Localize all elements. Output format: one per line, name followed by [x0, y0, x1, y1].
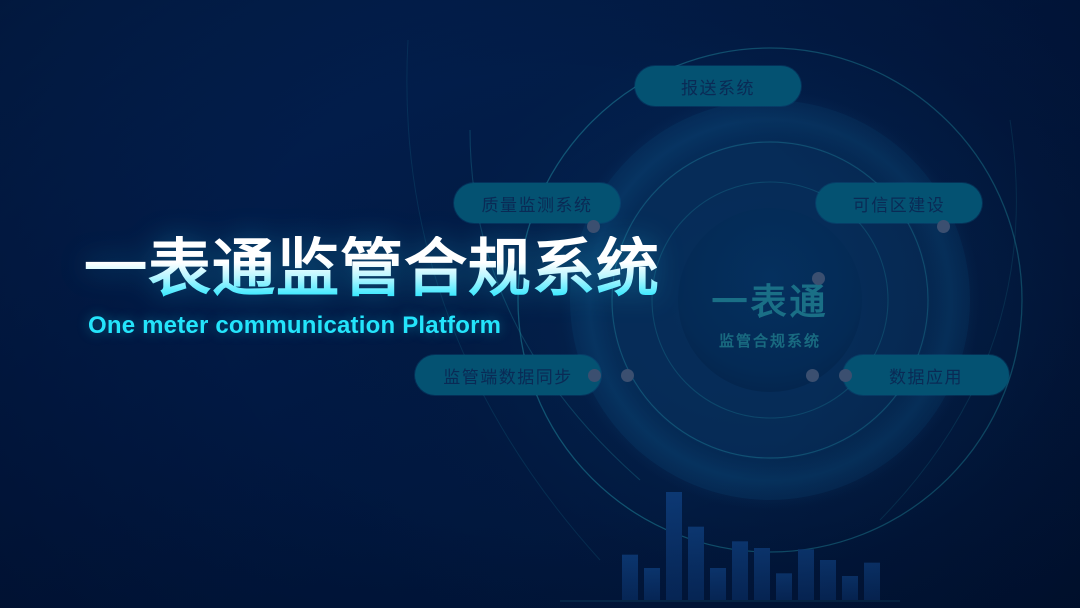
chart-bar [688, 527, 704, 600]
node-pill-label: 数据应用 [889, 363, 963, 388]
chart-bar [842, 576, 858, 600]
chart-bar [732, 541, 748, 600]
node-pill-label: 报送系统 [681, 74, 755, 99]
connector-dot-3 [621, 369, 634, 382]
connector-dot-1 [812, 272, 825, 285]
connector-dot-2 [588, 369, 601, 382]
connector-dot-4 [806, 369, 819, 382]
node-pill-3[interactable]: 可信区建设 [816, 183, 982, 223]
chart-bar [776, 573, 792, 600]
node-pill-5[interactable]: 数据应用 [843, 355, 1009, 395]
node-pill-1[interactable]: 报送系统 [635, 66, 801, 106]
chart-bar [798, 549, 814, 600]
node-pill-4[interactable]: 监管端数据同步 [415, 355, 601, 395]
headline-block: 一表通监管合规系统 One meter communication Platfo… [84, 236, 704, 340]
page-subtitle: One meter communication Platform [88, 312, 704, 340]
page-title: 一表通监管合规系统 [84, 236, 704, 302]
chart-bar [666, 492, 682, 600]
chart-bar [820, 560, 836, 600]
node-pill-2[interactable]: 质量监测系统 [454, 183, 620, 223]
connector-dot-7 [937, 220, 950, 233]
connector-dot-6 [587, 220, 600, 233]
node-pill-label: 监管端数据同步 [443, 363, 573, 388]
core-disc [678, 208, 862, 392]
chart-bar [622, 555, 638, 600]
node-pill-label: 质量监测系统 [482, 191, 593, 216]
connector-dot-5 [839, 369, 852, 382]
chart-bar [864, 563, 880, 600]
chart-bar [644, 568, 660, 600]
node-pill-label: 可信区建设 [853, 191, 946, 216]
chart-bar [754, 548, 770, 600]
slide-canvas: 一表通监管合规系统 One meter communication Platfo… [0, 0, 1080, 608]
chart-bar [710, 568, 726, 600]
